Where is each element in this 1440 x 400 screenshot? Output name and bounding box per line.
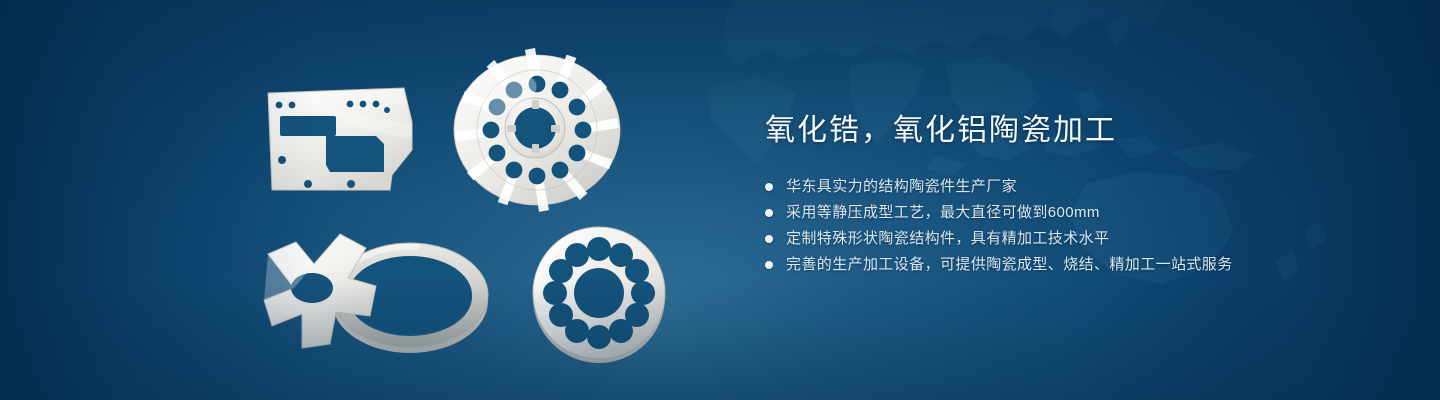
feature-text: 采用等静压成型工艺，最大直径可做到600mm: [786, 200, 1100, 225]
background-bottom-shade: [0, 280, 1440, 400]
list-item: 定制特殊形状陶瓷结构件，具有精加工技术水平: [765, 226, 1385, 251]
list-item: 采用等静压成型工艺，最大直径可做到600mm: [765, 200, 1385, 225]
feature-text: 完善的生产加工设备，可提供陶瓷成型、烧结、精加工一站式服务: [786, 252, 1233, 277]
feature-list: 华东具实力的结构陶瓷件生产厂家 采用等静压成型工艺，最大直径可做到600mm 定…: [765, 174, 1385, 277]
page-title: 氧化锆，氧化铝陶瓷加工: [765, 112, 1385, 150]
hero-banner: 氧化锆，氧化铝陶瓷加工 华东具实力的结构陶瓷件生产厂家 采用等静压成型工艺，最大…: [0, 0, 1440, 400]
bullet-dot-icon: [765, 183, 773, 191]
feature-text: 定制特殊形状陶瓷结构件，具有精加工技术水平: [786, 226, 1109, 251]
list-item: 完善的生产加工设备，可提供陶瓷成型、烧结、精加工一站式服务: [765, 252, 1385, 277]
bullet-dot-icon: [765, 235, 773, 243]
feature-text: 华东具实力的结构陶瓷件生产厂家: [786, 174, 1017, 199]
bullet-dot-icon: [765, 209, 773, 217]
banner-copy: 氧化锆，氧化铝陶瓷加工 华东具实力的结构陶瓷件生产厂家 采用等静压成型工艺，最大…: [765, 112, 1385, 278]
bullet-dot-icon: [765, 261, 773, 269]
list-item: 华东具实力的结构陶瓷件生产厂家: [765, 174, 1385, 199]
